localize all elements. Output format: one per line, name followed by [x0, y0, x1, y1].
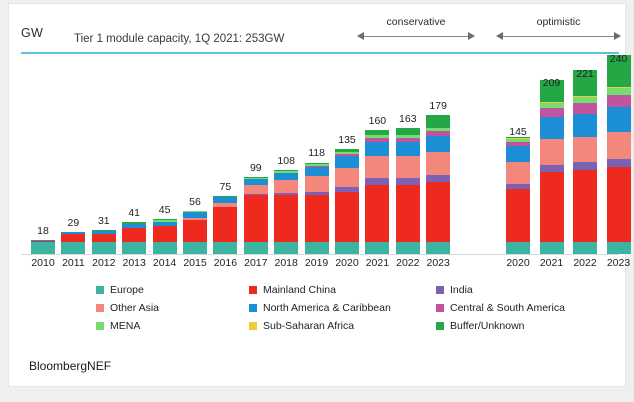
bar-conservative-2017[interactable]: [244, 177, 268, 254]
tick-label-conservative-2018: 2018: [271, 257, 301, 269]
bar-conservative-2018[interactable]: [274, 170, 298, 254]
bar-segment: [365, 156, 389, 178]
bar-value-label: 108: [277, 155, 295, 167]
annotation-label: conservative: [357, 16, 475, 28]
bar-segment: [573, 170, 597, 241]
bar-segment: [61, 242, 85, 254]
bar-segment: [365, 185, 389, 242]
bar-conservative-2021[interactable]: [365, 130, 389, 254]
bar-segment: [426, 175, 450, 182]
bar-segment: [426, 242, 450, 254]
tick-label-conservative-2017: 2017: [241, 257, 271, 269]
annotation-line: [363, 36, 469, 37]
bar-segment: [573, 162, 597, 170]
bar-segment: [365, 142, 389, 156]
tick-label-optimistic-2021: 2021: [537, 257, 567, 269]
bar-value-label: 163: [399, 113, 417, 125]
bar-optimistic-2022[interactable]: [573, 70, 597, 254]
tick-label-conservative-2011: 2011: [58, 257, 88, 269]
bar-segment: [305, 195, 329, 242]
legend-label: Central & South America: [450, 302, 565, 314]
bar-value-label: 31: [98, 215, 110, 227]
legend-label: Europe: [110, 284, 144, 296]
bar-value-label: 29: [68, 217, 80, 229]
bar-segment: [396, 142, 420, 156]
bar-segment: [213, 207, 237, 242]
legend-label: Mainland China: [263, 284, 336, 296]
legend-swatch: [436, 304, 444, 312]
bar-segment: [274, 173, 298, 180]
tick-label-conservative-2016: 2016: [210, 257, 240, 269]
bar-segment: [607, 242, 631, 254]
x-axis-line: [21, 254, 619, 255]
tick-label-conservative-2022: 2022: [393, 257, 423, 269]
bar-segment: [335, 192, 359, 242]
bar-conservative-2023[interactable]: [426, 115, 450, 254]
bar-segment: [540, 165, 564, 172]
legend-swatch: [96, 304, 104, 312]
bar-segment: [153, 242, 177, 254]
bar-value-label: 135: [338, 134, 356, 146]
bar-segment: [506, 146, 530, 162]
bar-segment: [426, 182, 450, 242]
arrow-left-icon: [496, 32, 503, 40]
legend-label: North America & Caribbean: [263, 302, 391, 314]
bar-segment: [540, 172, 564, 242]
bar-value-label: 179: [429, 100, 447, 112]
bar-segment: [540, 108, 564, 117]
bar-conservative-2022[interactable]: [396, 128, 420, 254]
legend-item-buffer-unknown[interactable]: Buffer/Unknown: [436, 320, 525, 332]
bar-segment: [213, 242, 237, 254]
arrow-left-icon: [357, 32, 364, 40]
bar-segment: [244, 195, 268, 242]
bar-segment: [506, 189, 530, 242]
tick-label-conservative-2014: 2014: [150, 257, 180, 269]
bar-segment: [396, 178, 420, 185]
bar-value-label: 56: [189, 196, 201, 208]
bar-value-label: 160: [369, 115, 387, 127]
tick-label-conservative-2012: 2012: [89, 257, 119, 269]
annotation-optimistic: optimistic: [496, 16, 621, 46]
stacked-bar-plot: 1829314145567599108118135160163179145209…: [21, 60, 619, 254]
chart-legend: EuropeMainland ChinaIndiaOther AsiaNorth…: [21, 280, 619, 332]
bar-segment: [92, 242, 116, 254]
legend-swatch: [249, 322, 257, 330]
header-divider: [21, 52, 619, 54]
legend-label: MENA: [110, 320, 140, 332]
annotation-line: [502, 36, 615, 37]
bar-segment: [396, 242, 420, 254]
bar-value-label: 209: [543, 77, 561, 89]
brand-footer: BloombergNEF: [29, 359, 111, 373]
bar-optimistic-2020[interactable]: [506, 137, 530, 254]
bar-value-label: 221: [576, 68, 594, 80]
bar-optimistic-2023[interactable]: [607, 55, 631, 254]
chart-subtitle: Tier 1 module capacity, 1Q 2021: 253GW: [74, 33, 284, 45]
bar-conservative-2011[interactable]: [61, 232, 85, 254]
bar-segment: [31, 242, 55, 254]
tick-label-optimistic-2020: 2020: [503, 257, 533, 269]
bar-segment: [244, 185, 268, 194]
legend-item-sub-saharan-africa[interactable]: Sub-Saharan Africa: [249, 320, 354, 332]
tick-label-optimistic-2022: 2022: [570, 257, 600, 269]
tick-label-conservative-2010: 2010: [28, 257, 58, 269]
legend-swatch: [436, 286, 444, 294]
screenshot-root: GW Tier 1 module capacity, 1Q 2021: 253G…: [0, 0, 634, 402]
annotation-label: optimistic: [496, 16, 621, 28]
legend-swatch: [96, 286, 104, 294]
bar-conservative-2020[interactable]: [335, 149, 359, 254]
bar-value-label: 75: [220, 181, 232, 193]
tick-label-conservative-2021: 2021: [362, 257, 392, 269]
legend-label: Buffer/Unknown: [450, 320, 525, 332]
bar-segment: [396, 128, 420, 136]
bar-segment: [506, 162, 530, 184]
legend-item-mena[interactable]: MENA: [96, 320, 140, 332]
bar-value-label: 118: [308, 147, 325, 159]
tick-label-optimistic-2023: 2023: [604, 257, 634, 269]
legend-item-india[interactable]: India: [436, 284, 473, 296]
bar-segment: [274, 180, 298, 192]
legend-item-mainland-china[interactable]: Mainland China: [249, 284, 336, 296]
legend-swatch: [249, 304, 257, 312]
legend-item-europe[interactable]: Europe: [96, 284, 144, 296]
legend-item-central-south-america[interactable]: Central & South America: [436, 302, 565, 314]
bar-segment: [335, 168, 359, 187]
bar-segment: [396, 185, 420, 242]
bar-segment: [573, 103, 597, 114]
legend-swatch: [96, 322, 104, 330]
bar-segment: [607, 167, 631, 241]
bar-segment: [540, 242, 564, 254]
bar-segment: [607, 88, 631, 95]
legend-item-north-america-caribbean[interactable]: North America & Caribbean: [249, 302, 391, 314]
bar-segment: [122, 228, 146, 241]
bar-segment: [305, 176, 329, 192]
bar-segment: [183, 220, 207, 242]
bar-segment: [61, 234, 85, 242]
chart-card: GW Tier 1 module capacity, 1Q 2021: 253G…: [9, 4, 625, 386]
bar-value-label: 18: [37, 225, 49, 237]
legend-swatch: [436, 322, 444, 330]
bar-segment: [335, 156, 359, 168]
bar-segment: [573, 137, 597, 163]
bar-segment: [183, 242, 207, 254]
bar-segment: [506, 242, 530, 254]
bar-value-label: 145: [509, 126, 527, 138]
bar-segment: [607, 95, 631, 107]
legend-label: Other Asia: [110, 302, 159, 314]
bar-conservative-2013[interactable]: [122, 222, 146, 254]
bar-value-label: 41: [128, 207, 140, 219]
y-axis-unit-label: GW: [21, 26, 43, 40]
bar-segment: [573, 114, 597, 137]
legend-label: India: [450, 284, 473, 296]
bar-conservative-2015[interactable]: [183, 211, 207, 254]
bar-value-label: 240: [610, 53, 628, 65]
bar-conservative-2019[interactable]: [305, 163, 329, 255]
bar-value-label: 99: [250, 162, 262, 174]
bar-segment: [426, 152, 450, 175]
arrow-right-icon: [468, 32, 475, 40]
legend-item-other-asia[interactable]: Other Asia: [96, 302, 159, 314]
bar-segment: [396, 156, 420, 178]
tick-label-conservative-2013: 2013: [119, 257, 149, 269]
tick-label-conservative-2023: 2023: [423, 257, 453, 269]
bar-segment: [274, 242, 298, 254]
bar-segment: [153, 226, 177, 242]
bar-conservative-2010[interactable]: [31, 240, 55, 254]
bar-segment: [305, 167, 329, 176]
tick-label-conservative-2015: 2015: [180, 257, 210, 269]
bar-segment: [92, 234, 116, 242]
bar-segment: [607, 107, 631, 133]
bar-segment: [244, 242, 268, 254]
bar-segment: [305, 242, 329, 254]
bar-segment: [426, 115, 450, 127]
arrow-right-icon: [614, 32, 621, 40]
bar-segment: [122, 242, 146, 254]
legend-swatch: [249, 286, 257, 294]
legend-label: Sub-Saharan Africa: [263, 320, 354, 332]
bar-conservative-2016[interactable]: [213, 196, 237, 254]
bar-segment: [607, 132, 631, 158]
annotation-conservative: conservative: [357, 16, 475, 46]
tick-label-conservative-2019: 2019: [302, 257, 332, 269]
bar-conservative-2014[interactable]: [153, 219, 177, 254]
bar-segment: [573, 242, 597, 254]
tick-label-conservative-2020: 2020: [332, 257, 362, 269]
bar-segment: [540, 139, 564, 165]
bar-conservative-2012[interactable]: [92, 230, 116, 254]
bar-segment: [365, 242, 389, 254]
bar-segment: [426, 136, 450, 152]
bar-value-label: 45: [159, 204, 171, 216]
bar-segment: [607, 159, 631, 168]
bar-segment: [274, 195, 298, 242]
bar-segment: [365, 178, 389, 185]
bar-segment: [540, 117, 564, 139]
bar-segment: [335, 242, 359, 254]
bar-optimistic-2021[interactable]: [540, 80, 564, 255]
